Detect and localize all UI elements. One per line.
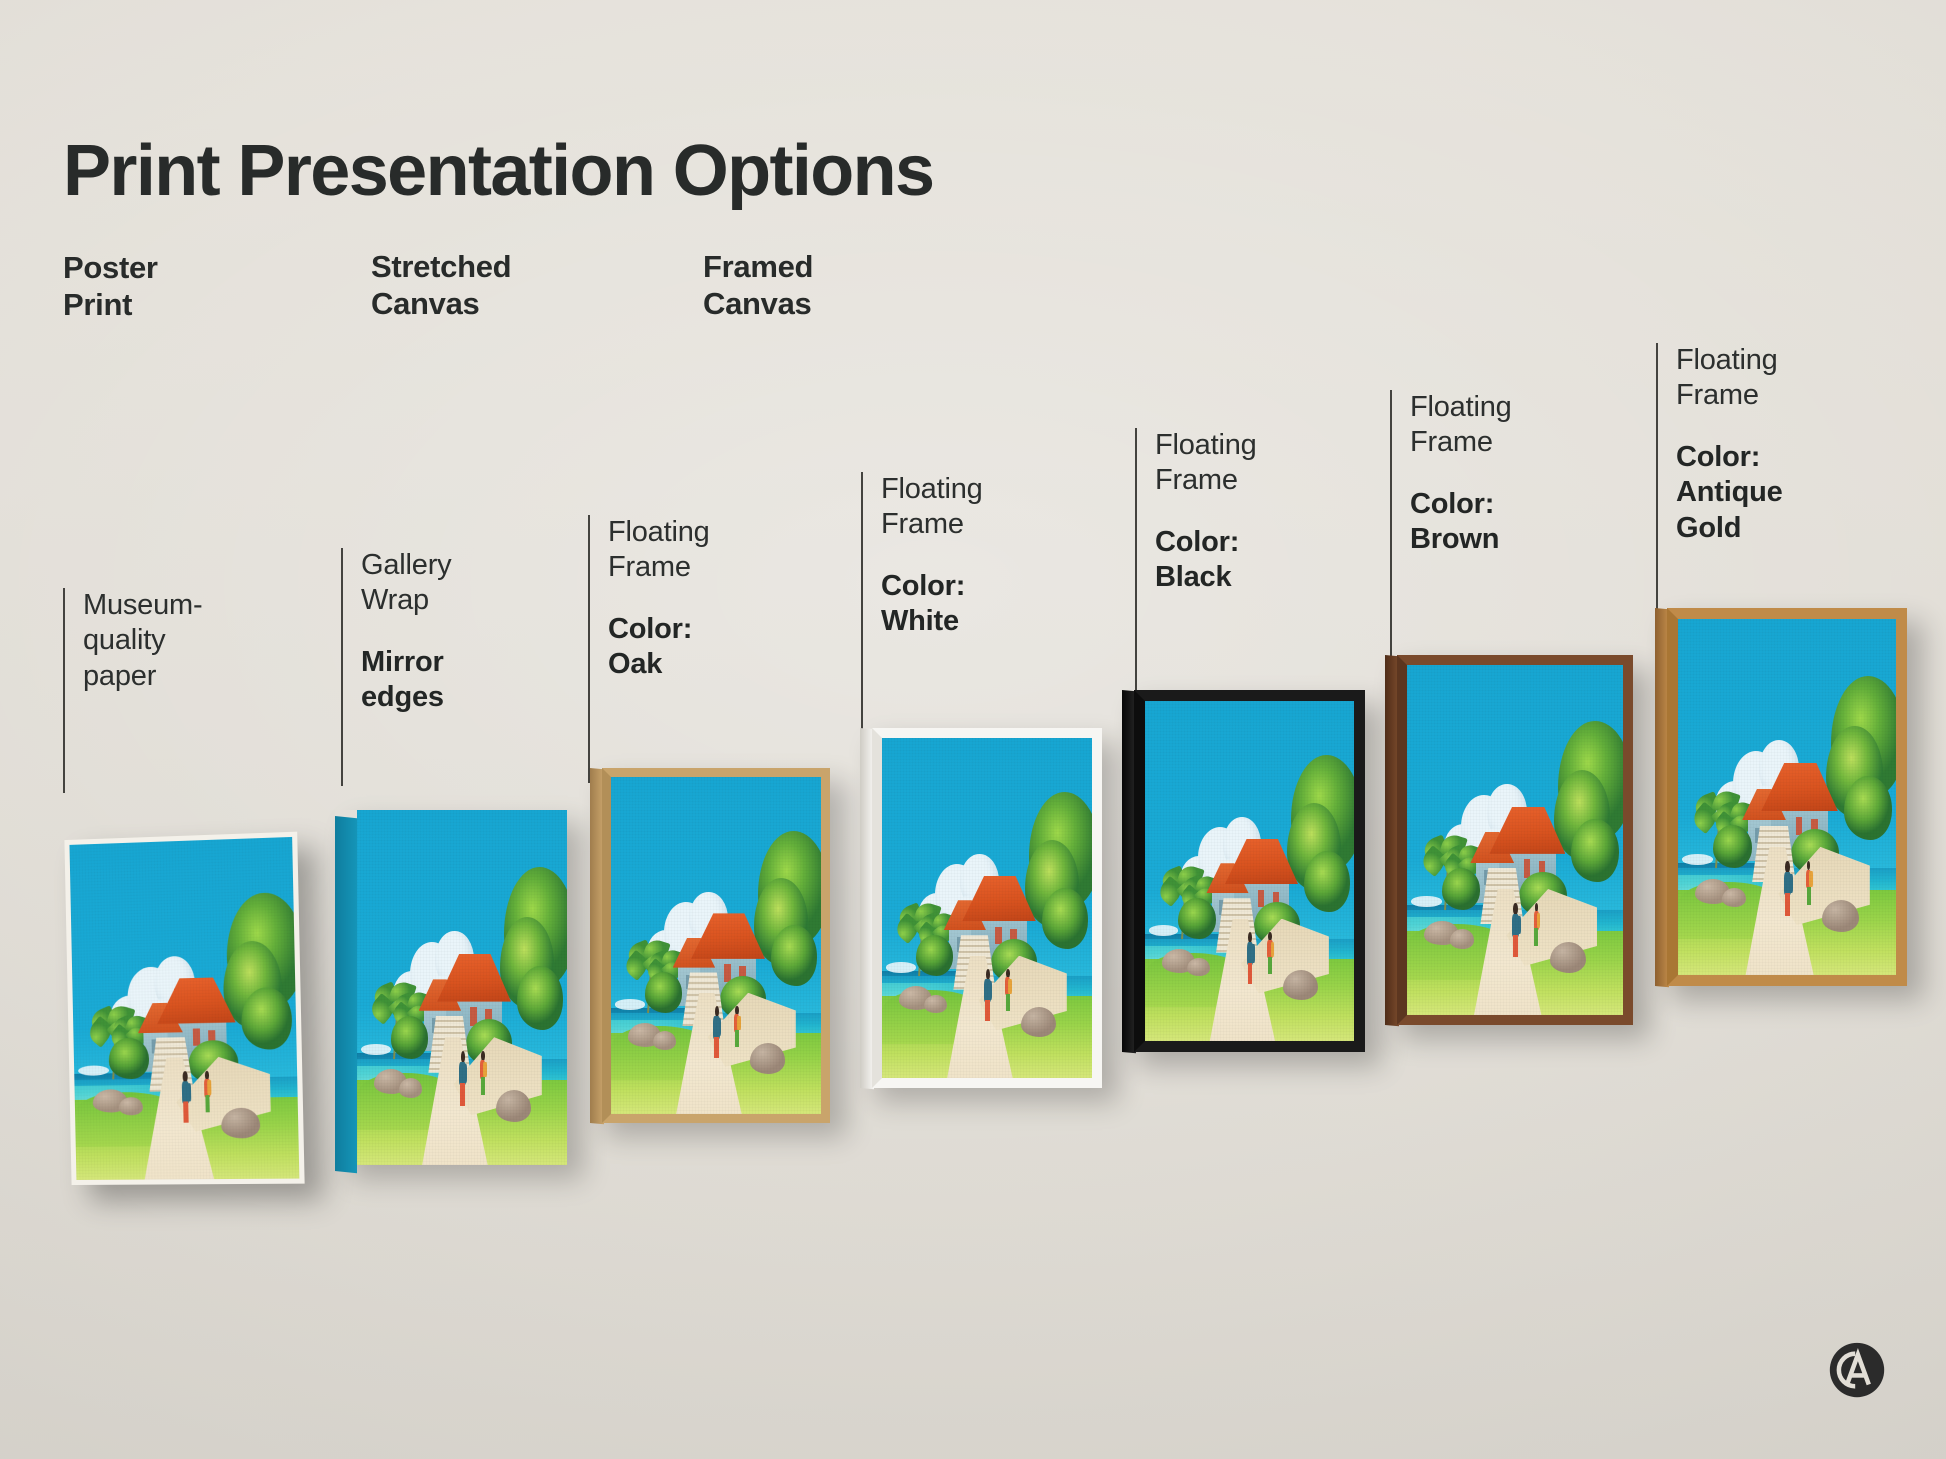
artwork-tropical-beach [357, 810, 567, 1165]
artwork-tropical-beach [1678, 619, 1896, 975]
artwork-tropical-beach [69, 837, 299, 1180]
annotation-framed-gold: Floating Frame Color: Antique Gold [1656, 343, 1783, 611]
product-framed-gold[interactable] [1655, 608, 1907, 986]
artwork-bush [109, 1038, 150, 1079]
annotation-detail-framed-black: Color: Black [1155, 525, 1257, 596]
category-heading-stretched-canvas: Stretched Canvas [371, 249, 511, 323]
annotation-type-poster-print: Museum- quality paper [83, 588, 202, 694]
product-framed-brown[interactable] [1385, 655, 1633, 1025]
category-heading-framed-canvas: Framed Canvas [703, 249, 813, 323]
annotation-stretched-canvas: Gallery Wrap Mirror edges [341, 548, 451, 786]
annotation-type-framed-oak: Floating Frame [608, 515, 710, 586]
framed-artwork [1145, 701, 1354, 1041]
artwork-tropical-beach [1145, 701, 1354, 1041]
product-poster-print[interactable] [64, 832, 304, 1185]
framed-artwork [1407, 665, 1623, 1015]
artwork-rock [119, 1097, 144, 1116]
annotation-spacer [1410, 461, 1512, 487]
canvas-front-face [357, 810, 567, 1165]
floating-frame-white [860, 728, 1102, 1088]
category-heading-poster-print: Poster Print [63, 250, 158, 324]
floating-frame-antique-gold [1655, 608, 1907, 986]
artwork-tropical-beach [882, 738, 1092, 1078]
artwork-figure [180, 1071, 191, 1122]
floating-frame-oak [590, 768, 830, 1123]
product-framed-black[interactable] [1122, 690, 1365, 1052]
canvas-wrapped-edge [335, 816, 357, 1173]
framed-artwork [1678, 619, 1896, 975]
annotation-detail-stretched-canvas: Mirror edges [361, 645, 451, 716]
annotation-detail-framed-brown: Color: Brown [1410, 487, 1512, 558]
product-stretched-canvas[interactable] [335, 810, 567, 1165]
annotation-poster-print: Museum- quality paper [63, 588, 202, 793]
annotation-type-framed-black: Floating Frame [1155, 428, 1257, 499]
frame-border [1667, 608, 1907, 986]
product-framed-white[interactable] [860, 728, 1102, 1088]
page-title: Print Presentation Options [63, 130, 934, 212]
artwork-figure [202, 1071, 211, 1112]
artwork-tropical-beach [611, 777, 821, 1114]
annotation-type-framed-white: Floating Frame [881, 472, 983, 543]
frame-border [1134, 690, 1365, 1052]
annotation-type-stretched-canvas: Gallery Wrap [361, 548, 451, 619]
annotation-framed-black: Floating Frame Color: Black [1135, 428, 1257, 698]
frame-border [1397, 655, 1633, 1025]
annotation-spacer [361, 619, 451, 645]
brand-logo-icon[interactable] [1828, 1341, 1886, 1399]
annotation-framed-white: Floating Frame Color: White [861, 472, 983, 742]
annotation-type-framed-gold: Floating Frame [1676, 343, 1783, 414]
annotation-detail-framed-oak: Color: Oak [608, 612, 710, 683]
annotation-framed-oak: Floating Frame Color: Oak [588, 515, 710, 783]
floating-frame-black [1122, 690, 1365, 1052]
frame-border [602, 768, 830, 1123]
annotation-framed-brown: Floating Frame Color: Brown [1390, 390, 1512, 662]
annotation-type-framed-brown: Floating Frame [1410, 390, 1512, 461]
poster-artwork [69, 837, 299, 1180]
annotation-spacer [608, 586, 710, 612]
framed-artwork [882, 738, 1092, 1078]
screenshot-canvas: Print Presentation Options Poster Print … [0, 0, 1946, 1459]
product-framed-oak[interactable] [590, 768, 830, 1123]
frame-border [872, 728, 1102, 1088]
artwork-bush [241, 987, 292, 1049]
annotation-spacer [881, 543, 983, 569]
annotation-detail-framed-white: Color: White [881, 569, 983, 640]
artwork-rock [221, 1107, 260, 1138]
annotation-spacer [1155, 499, 1257, 525]
annotation-spacer [1676, 414, 1783, 440]
annotation-detail-framed-gold: Color: Antique Gold [1676, 440, 1783, 546]
framed-artwork [611, 777, 821, 1114]
floating-frame-brown [1385, 655, 1633, 1025]
artwork-tropical-beach [1407, 665, 1623, 1015]
